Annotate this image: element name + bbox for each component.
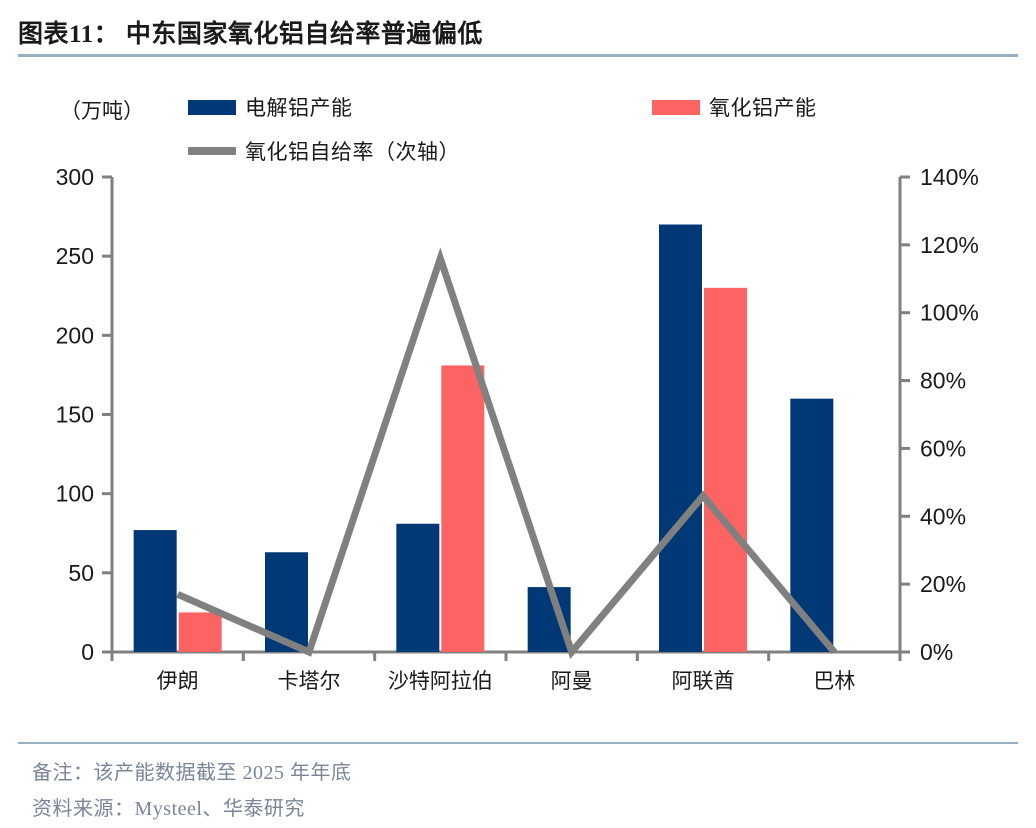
y-axis-left-tick-label: 300 (56, 164, 94, 190)
bar-electrolytic-aluminum (790, 399, 833, 652)
y-axis-left-tick-label: 150 (56, 402, 94, 428)
y-axis-right-tick-label: 40% (920, 503, 966, 529)
x-axis-category-label: 伊朗 (157, 669, 199, 693)
bar-electrolytic-aluminum (659, 225, 702, 653)
y-axis-left-tick-label: 50 (68, 560, 94, 586)
y-axis-right-tick-label: 120% (920, 232, 979, 258)
y-axis-right-tick-label: 100% (920, 300, 979, 326)
x-axis-category-label: 沙特阿拉伯 (388, 669, 493, 693)
footer-source: 资料来源：Mysteel、华泰研究 (32, 792, 305, 821)
bar-alumina-capacity (704, 288, 747, 652)
y-axis-right-tick-label: 0% (920, 639, 953, 665)
chart-plot-area: 0501001502002503000%20%40%60%80%100%120%… (0, 0, 1036, 828)
y-axis-right-tick-label: 20% (920, 571, 966, 597)
y-axis-left-tick-label: 0 (81, 639, 94, 665)
y-axis-right-tick-label: 140% (920, 164, 979, 190)
chart-svg: 0501001502002503000%20%40%60%80%100%120%… (0, 0, 1036, 828)
y-axis-right-tick-label: 60% (920, 435, 966, 461)
bar-alumina-capacity (441, 365, 484, 652)
x-axis-category-label: 阿曼 (551, 669, 593, 693)
x-axis-category-label: 巴林 (813, 669, 855, 693)
bar-electrolytic-aluminum (134, 530, 177, 652)
footer-note: 备注：该产能数据截至 2025 年年底 (32, 756, 352, 785)
bars-layer (134, 225, 834, 653)
y-axis-left-tick-label: 200 (56, 322, 94, 348)
footer-divider (18, 742, 1018, 744)
y-axis-right-tick-label: 80% (920, 368, 966, 394)
bar-alumina-capacity (179, 612, 222, 652)
x-axis-category-label: 阿联酋 (672, 669, 735, 693)
y-axis-left-tick-label: 100 (56, 481, 94, 507)
x-axis-category-label: 卡塔尔 (278, 669, 341, 693)
bar-electrolytic-aluminum (396, 524, 439, 652)
y-axis-left-tick-label: 250 (56, 243, 94, 269)
axis-layer (102, 177, 910, 661)
